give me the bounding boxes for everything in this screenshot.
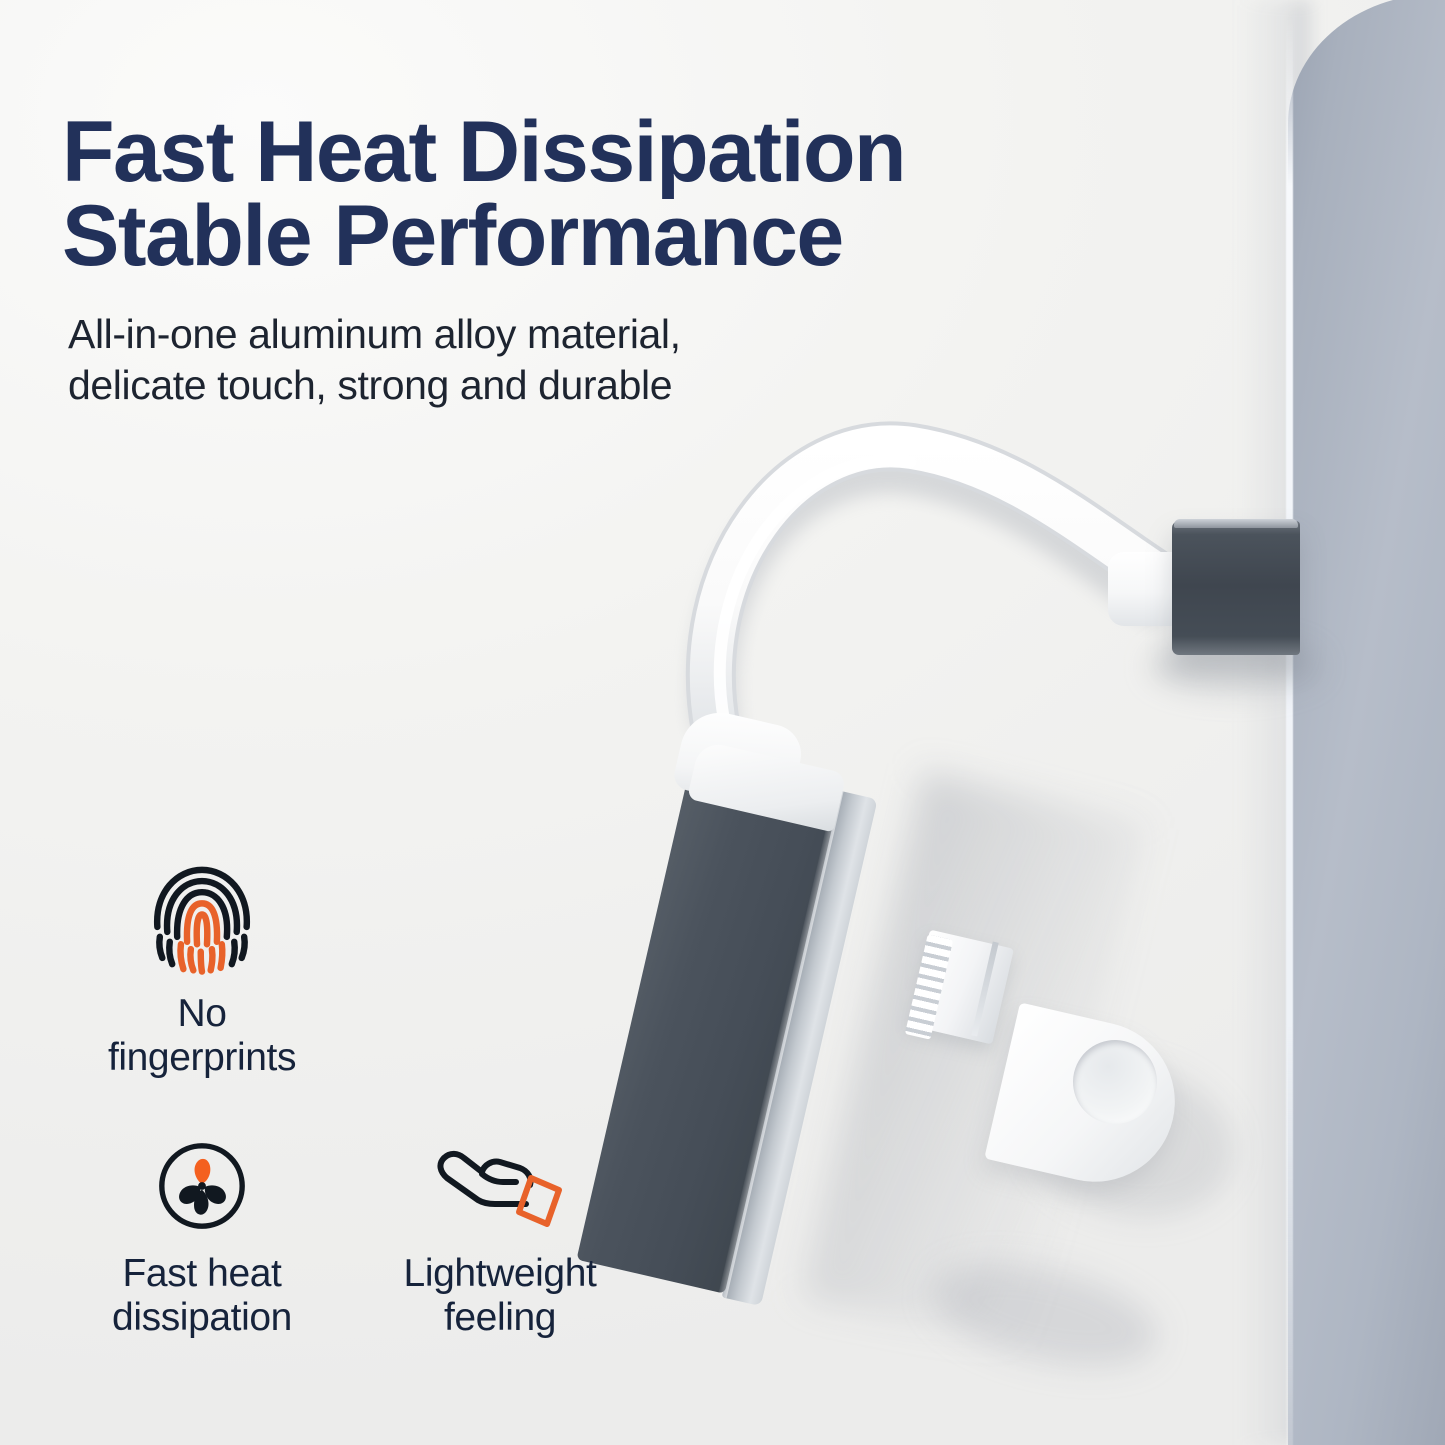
fingerprint-icon [140, 855, 264, 979]
hand-holding-box-icon-wrap [340, 1130, 660, 1242]
feature-label: Fast heat dissipation [42, 1252, 362, 1339]
subtitle-line-2: delicate touch, strong and durable [68, 360, 888, 411]
hub-cable-collar [687, 740, 847, 832]
hub-edge-highlight [718, 790, 844, 1299]
fingerprint-icon-wrap [42, 852, 362, 982]
hub-body-shadow [802, 771, 1148, 1349]
fan-icon [153, 1137, 251, 1235]
subtitle-line-1: All-in-one aluminum alloy material, [68, 311, 681, 357]
feature-no-fingerprints: No fingerprints [42, 852, 362, 1079]
product-feature-image: Fast Heat Dissipation Stable Performance… [0, 0, 1445, 1445]
keyring-hole [1065, 1032, 1166, 1133]
fan-icon-wrap [42, 1130, 362, 1242]
usb-a-plug [908, 930, 1014, 1045]
laptop-edge-highlight [1286, 14, 1293, 1445]
headline-line-2: Stable Performance [62, 194, 1122, 278]
laptop-edge-panel [1288, 0, 1445, 1445]
feature-label: Lightweight feeling [340, 1252, 660, 1339]
page-subtitle: All-in-one aluminum alloy material, deli… [68, 309, 888, 412]
hub-side-face [722, 790, 878, 1306]
usb-a-plug-grip [905, 934, 953, 1039]
feature-lightweight-feeling: Lightweight feeling [340, 1130, 660, 1339]
keyring-tab-shadow [1011, 1043, 1249, 1236]
usb-a-plug-seam [971, 942, 998, 1037]
headline-line-1: Fast Heat Dissipation [62, 104, 905, 200]
usb-c-strain-relief [1108, 552, 1182, 626]
cable-shadow [612, 412, 1172, 732]
keyring-tab [984, 1002, 1191, 1197]
page-title: Fast Heat Dissipation Stable Performance [62, 110, 1122, 279]
hand-holding-box-icon [434, 1138, 566, 1234]
feature-label: No fingerprints [42, 992, 362, 1079]
feature-fast-heat-dissipation: Fast heat dissipation [42, 1130, 362, 1339]
hub-cable-strain-relief [671, 705, 807, 814]
hub-tip-shadow [923, 1245, 1167, 1384]
white-cable [612, 400, 1184, 745]
